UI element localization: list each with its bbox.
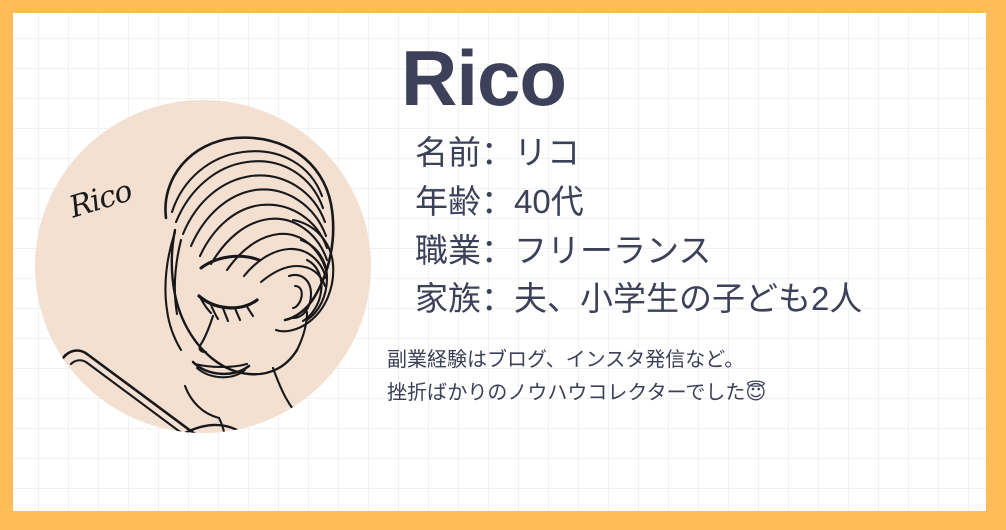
profile-info: Rico 名前：リコ 年齢：40代 職業：フリーランス 家族：夫、小学生の子ども…	[387, 21, 986, 412]
page-title: Rico	[401, 39, 986, 117]
detail-name: 名前：リコ	[415, 129, 986, 178]
avatar: Rico	[35, 100, 371, 433]
angel-face-emoji-icon: 😇	[745, 382, 766, 404]
detail-family: 家族：夫、小学生の子ども2人	[415, 275, 986, 324]
profile-detail-list: 名前：リコ 年齢：40代 職業：フリーランス 家族：夫、小学生の子ども2人	[415, 129, 986, 324]
footnote-line-2-text: 挫折ばかりのノウハウコレクターでした	[387, 382, 745, 404]
profile-card: Rico Rico 名前：リコ 年齢：40代 職業：フリーランス 家族：夫、小学…	[0, 0, 1006, 530]
detail-age: 年齢：40代	[415, 178, 986, 227]
grid-paper-background: Rico Rico 名前：リコ 年齢：40代 職業：フリーランス 家族：夫、小学…	[13, 13, 986, 511]
footnote-line-2: 挫折ばかりのノウハウコレクターでした😇	[387, 379, 986, 409]
footnote-line-1: 副業経験はブログ、インスタ発信など。	[387, 346, 986, 376]
profile-footnote: 副業経験はブログ、インスタ発信など。 挫折ばかりのノウハウコレクターでした😇	[387, 346, 986, 408]
detail-occupation: 職業：フリーランス	[415, 227, 986, 276]
woman-smartphone-illustration-icon	[35, 100, 371, 433]
